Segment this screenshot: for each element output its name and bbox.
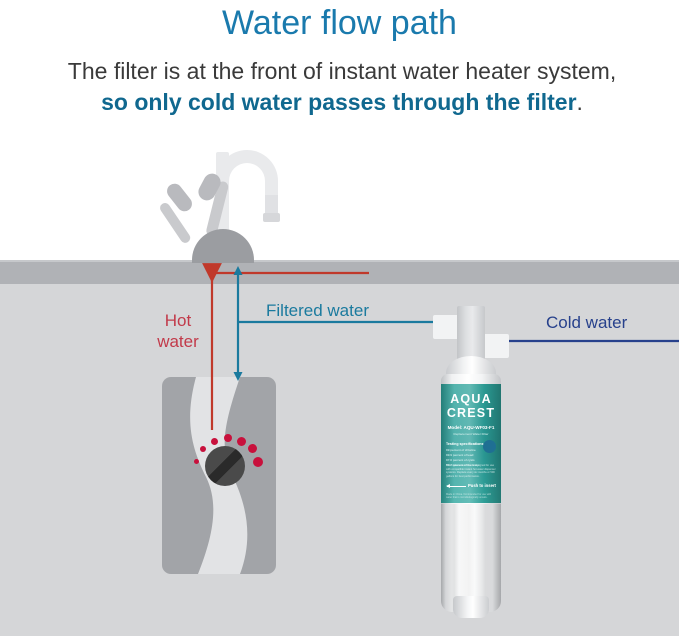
- heater-indicator-dot: [211, 438, 218, 445]
- push-to-insert-row: Push to insert: [446, 482, 496, 491]
- filter-outlet-port: [433, 315, 459, 339]
- filter-footer-text: Made in China. Not intended for use with…: [446, 493, 494, 499]
- hot-water-label: Hot water: [148, 310, 208, 352]
- spec-row: 97.0 percent of cysts: [446, 458, 475, 462]
- heater-indicator-dot: [237, 437, 246, 446]
- spec-row: 99.9 percent of lead: [446, 453, 473, 457]
- brand-name-line1: AQUA: [441, 392, 501, 406]
- heater-indicator-dot: [194, 459, 199, 464]
- filter-inlet-port: [483, 334, 509, 358]
- heater-indicator-dot: [253, 457, 263, 467]
- faucet-base: [192, 229, 254, 263]
- heater-indicator-dot: [224, 434, 232, 442]
- countertop-band: [0, 262, 679, 284]
- filter-model-number: Model: AQU-WF03-F1: [441, 425, 501, 430]
- water-flow-path-diagram: Water flow path The filter is at the fro…: [0, 0, 679, 636]
- heating-element-disc: [205, 446, 245, 486]
- cold-water-label: Cold water: [546, 312, 627, 333]
- filter-head: [457, 306, 485, 360]
- heater-indicator-dot: [248, 444, 257, 453]
- spec-row: 99 percent of chlorine: [446, 448, 476, 452]
- spec-title: Testing specifications:: [446, 442, 485, 446]
- heater-indicator-dot: [200, 446, 206, 452]
- diagram-scene: Hot water Filtered water Cold water AQUA…: [0, 0, 679, 636]
- faucet-spout-tip: [263, 213, 280, 222]
- filter-description-paragraph: This replacement filter is designed for …: [446, 464, 496, 478]
- filter-bottom-cap: [453, 596, 489, 618]
- brand-name-line2: CREST: [441, 406, 501, 420]
- filter-label: AQUA CREST Model: AQU-WF03-F1 Replacemen…: [441, 384, 501, 503]
- filtered-water-label: Filtered water: [266, 300, 369, 321]
- water-filter-cartridge: AQUA CREST Model: AQU-WF03-F1 Replacemen…: [425, 306, 529, 618]
- push-to-insert-text: Push to insert: [468, 483, 496, 488]
- arrow-left-icon: [447, 486, 466, 487]
- under-counter-area: [0, 284, 679, 636]
- filter-subtitle: Replacement Water Filter: [441, 432, 501, 436]
- nsf-certification-badge: [483, 440, 496, 453]
